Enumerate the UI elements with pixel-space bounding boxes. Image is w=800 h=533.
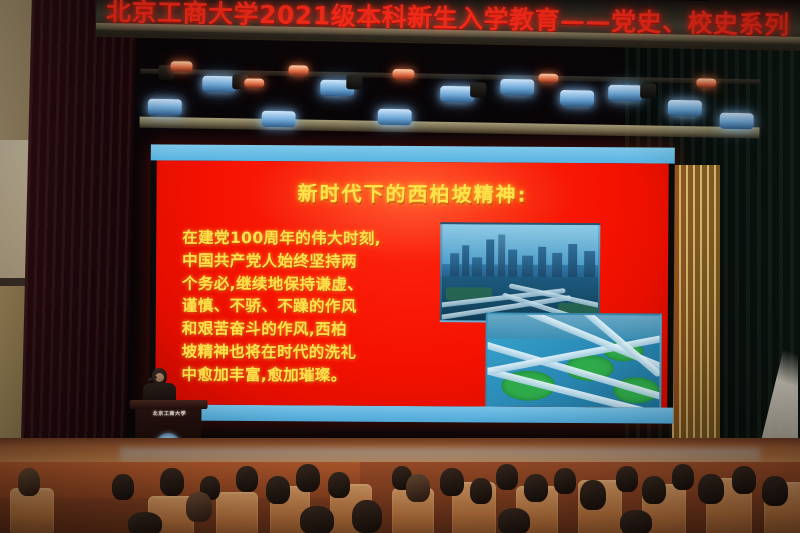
stage-light-icon (500, 79, 534, 96)
slide-body-line: 中国共产党人始终坚持两 (182, 249, 430, 273)
presentation-screen: 新时代下的西柏坡精神: 在建党100周年的伟大时刻, 中国共产党人始终坚持两 个… (149, 144, 675, 423)
left-curtain (20, 0, 137, 475)
highway-interchange-photo (485, 312, 662, 407)
audience-head (440, 468, 464, 496)
photo-building (584, 251, 595, 279)
slide-title: 新时代下的西柏坡精神: (156, 176, 668, 208)
stage-light-icon (288, 65, 308, 75)
audience-area (0, 462, 800, 533)
podium-top (130, 400, 208, 409)
audience-head (18, 468, 40, 496)
audience-head (352, 500, 382, 533)
audience-head (236, 466, 258, 492)
photo-building (508, 250, 517, 279)
slide-body-line: 和艰苦奋斗的作风,西柏 (182, 318, 430, 342)
audience-head (698, 474, 724, 504)
audience-head (496, 464, 518, 490)
stage-light-icon (346, 74, 362, 89)
stage-light-icon (261, 111, 295, 128)
audience-head (554, 468, 576, 494)
slide-body-line: 坡精神也将在时代的洗礼 (182, 341, 430, 365)
slide-body-line: 中愈加丰富,愈加璀璨。 (181, 363, 429, 387)
stage-light-icon (244, 78, 264, 87)
stage-light-icon (202, 76, 236, 93)
stage-light-icon (470, 82, 486, 97)
stage-light-icon (378, 109, 412, 126)
gold-side-curtain (672, 165, 720, 443)
photo-building (522, 255, 533, 278)
photo-building (450, 253, 459, 278)
audience-head (186, 492, 212, 522)
audience-head (406, 474, 430, 502)
audience-head (328, 472, 350, 498)
photo-building (568, 244, 577, 279)
screen-bottom-band (149, 404, 673, 423)
audience-head (672, 464, 694, 490)
audience-head (112, 474, 134, 500)
lighting-truss (139, 47, 761, 153)
slide-body-line: 个务必,继续地保持谦虚、 (182, 272, 430, 296)
auditorium-scene: 北京工商大学2021级本科新生入学教育——党史、校史系列 (0, 0, 800, 533)
photo-building (498, 234, 505, 278)
audience-head (616, 466, 638, 492)
stage-light-icon (668, 100, 702, 117)
slide-body-line: 在建党100周年的伟大时刻, (182, 227, 430, 251)
audience-head (620, 510, 652, 533)
audience-head (732, 466, 756, 494)
stage-light-icon (608, 85, 642, 102)
audience-head (300, 506, 334, 533)
photo-building (472, 257, 482, 278)
stage-light-icon (560, 90, 594, 107)
stage-light-icon (538, 74, 558, 83)
auditorium-seat (216, 492, 258, 533)
slide-body-text: 在建党100周年的伟大时刻, 中国共产党人始终坚持两 个务必,继续地保持谦虚、 … (181, 227, 430, 388)
stage-light-icon (170, 61, 192, 71)
stage-light-icon (696, 78, 716, 87)
audience-head (296, 464, 320, 492)
city-skyline-photo (440, 222, 601, 323)
audience-head (642, 476, 666, 504)
audience-head (762, 476, 788, 506)
photo-building (552, 253, 562, 279)
audience-head (160, 468, 184, 496)
stage-light-icon (440, 86, 474, 103)
audience-head (128, 512, 162, 533)
podium-nameplate: 北京工商大学 (141, 410, 197, 417)
photo-building (462, 245, 469, 278)
slide-canvas: 新时代下的西柏坡精神: 在建党100周年的伟大时刻, 中国共产党人始终坚持两 个… (155, 160, 668, 407)
stage-light-icon (720, 113, 754, 130)
audience-head (524, 474, 548, 502)
audience-head (498, 508, 530, 533)
audience-head (470, 478, 492, 504)
stage-light-icon (392, 69, 414, 79)
truss-lower-bar (139, 117, 759, 139)
audience-head (580, 480, 606, 510)
photo-building (486, 240, 494, 278)
stage-light-icon (148, 99, 182, 116)
slide-body-line: 谨慎、不骄、不躁的作风 (182, 295, 430, 319)
audience-head (266, 476, 290, 504)
photo-building (538, 247, 546, 279)
stage-light-icon (640, 83, 656, 98)
